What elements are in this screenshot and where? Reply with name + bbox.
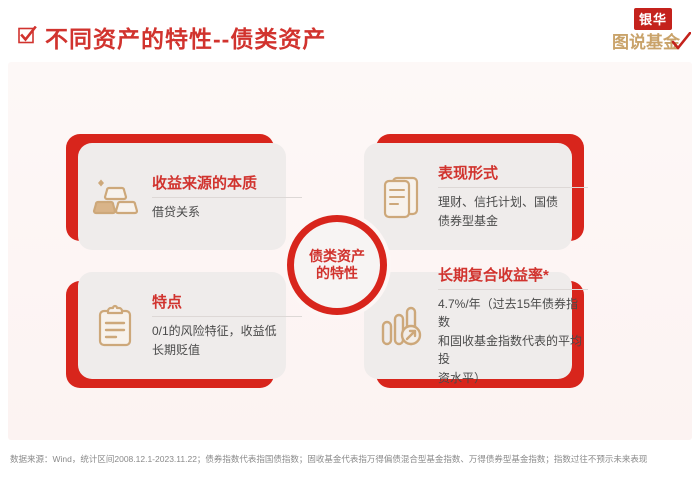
card-long-term-return[interactable]: 长期复合收益率* 4.7%/年（过去15年债券指数 和固收基金指数代表的平均投 … xyxy=(364,272,572,379)
gold-bars-icon xyxy=(78,177,152,217)
card-forms[interactable]: 表现形式 理财、信托计划、国债 债券型基金 xyxy=(364,143,572,250)
card-text-line: 资水平） xyxy=(438,369,588,388)
card-features[interactable]: 特点 0/1的风险特征，收益低 长期贬值 xyxy=(78,272,286,379)
card-text-line: 债券型基金 xyxy=(438,212,588,231)
card-text-line: 借贷关系 xyxy=(152,203,302,222)
card-text-line: 4.7%/年（过去15年债券指数 xyxy=(438,295,588,332)
card-text-line: 和固收基金指数代表的平均投 xyxy=(438,332,588,369)
card-title: 收益来源的本质 xyxy=(152,172,302,198)
document-icon xyxy=(364,175,438,219)
checkbox-check-icon xyxy=(18,26,37,45)
logo-brand-name: 银华 xyxy=(634,8,672,30)
brand-logo: 银华 图说基金 xyxy=(612,8,690,55)
card-text-line: 长期贬值 xyxy=(152,341,302,360)
bar-chart-arrow-icon xyxy=(364,304,438,348)
card-title: 长期复合收益率* xyxy=(438,264,588,290)
card-text-line: 理财、信托计划、国债 xyxy=(438,193,588,212)
header: 不同资产的特性--债类资产 银华 图说基金 xyxy=(0,0,700,62)
centre-badge-line2: 的特性 xyxy=(309,265,365,283)
footnote-source: 数据来源：Wind，统计区间2008.12.1-2023.11.22；债券指数代… xyxy=(10,452,690,466)
slide-root: 不同资产的特性--债类资产 银华 图说基金 xyxy=(0,0,700,486)
card-text-line: 0/1的风险特征，收益低 xyxy=(152,322,302,341)
logo-series-name: 图说基金 xyxy=(612,28,680,53)
clipboard-icon xyxy=(78,304,152,348)
page-title: 不同资产的特性--债类资产 xyxy=(45,20,326,54)
card-title: 特点 xyxy=(152,291,302,317)
red-check-icon xyxy=(671,32,691,52)
card-title: 表现形式 xyxy=(438,162,588,188)
centre-badge: 债类资产 的特性 xyxy=(287,215,387,315)
centre-badge-line1: 债类资产 xyxy=(309,248,365,266)
card-income-source[interactable]: 收益来源的本质 借贷关系 xyxy=(78,143,286,250)
